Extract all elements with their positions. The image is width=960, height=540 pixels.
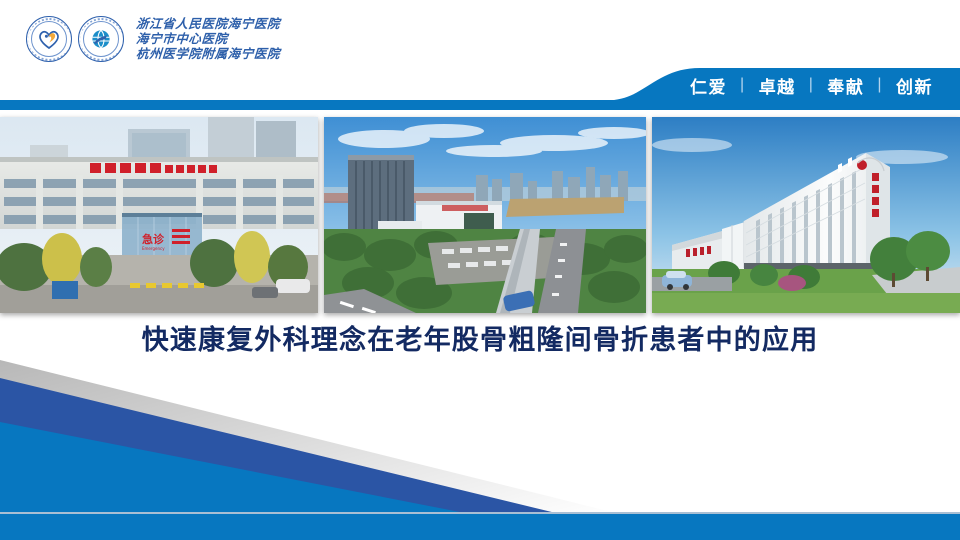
slide-header: 浙江省人民医院海宁医院 海宁市中心医院 杭州医学院附属海宁医院 仁爱 | 卓越 …: [0, 0, 960, 110]
hospital-name-block: 浙江省人民医院海宁医院 海宁市中心医院 杭州医学院附属海宁医院: [136, 17, 280, 61]
svg-text:Emergency: Emergency: [142, 246, 165, 251]
motto-word-2: 卓越: [746, 73, 809, 98]
hospital-main-building-photo: 急诊 Emergency: [0, 117, 318, 313]
motto-word-4: 创新: [883, 73, 946, 98]
slide-title: 快速康复外科理念在老年股骨粗隆间骨折患者中的应用: [0, 322, 960, 358]
heart-emblem-icon: [26, 16, 72, 62]
header-divider-bar: [0, 100, 960, 110]
motto-word-1: 仁爱: [677, 73, 740, 98]
motto-separator-3: |: [877, 76, 883, 94]
heart-glyph-icon: [37, 27, 61, 51]
hospital-name-line-1: 浙江省人民医院海宁医院: [136, 17, 281, 31]
globe-emblem-icon: [78, 16, 124, 62]
motto-separator-2: |: [809, 76, 815, 94]
hospital-motto: 仁爱 | 卓越 | 奉献 | 创新: [677, 70, 946, 100]
hospital-name-line-3: 杭州医学院附属海宁医院: [136, 47, 281, 61]
presentation-title-slide: 浙江省人民医院海宁医院 海宁市中心医院 杭州医学院附属海宁医院 仁爱 | 卓越 …: [0, 0, 960, 540]
hospital-name-line-2: 海宁市中心医院: [136, 32, 281, 46]
motto-word-3: 奉献: [814, 73, 877, 98]
footer-bar: [0, 514, 960, 540]
hospital-logo-group: 浙江省人民医院海宁医院 海宁市中心医院 杭州医学院附属海宁医院: [26, 16, 280, 62]
deco-light-triangle: [0, 422, 470, 514]
motto-separator-1: |: [740, 76, 746, 94]
svg-text:急诊: 急诊: [142, 232, 165, 246]
deco-dark-diagonal: [0, 378, 560, 514]
hospital-campus-aerial-photo: [324, 117, 646, 313]
globe-glyph-icon: [88, 26, 114, 52]
new-hospital-rendering-photo: [652, 117, 960, 313]
photo-strip: 急诊 Emergency: [0, 117, 960, 313]
